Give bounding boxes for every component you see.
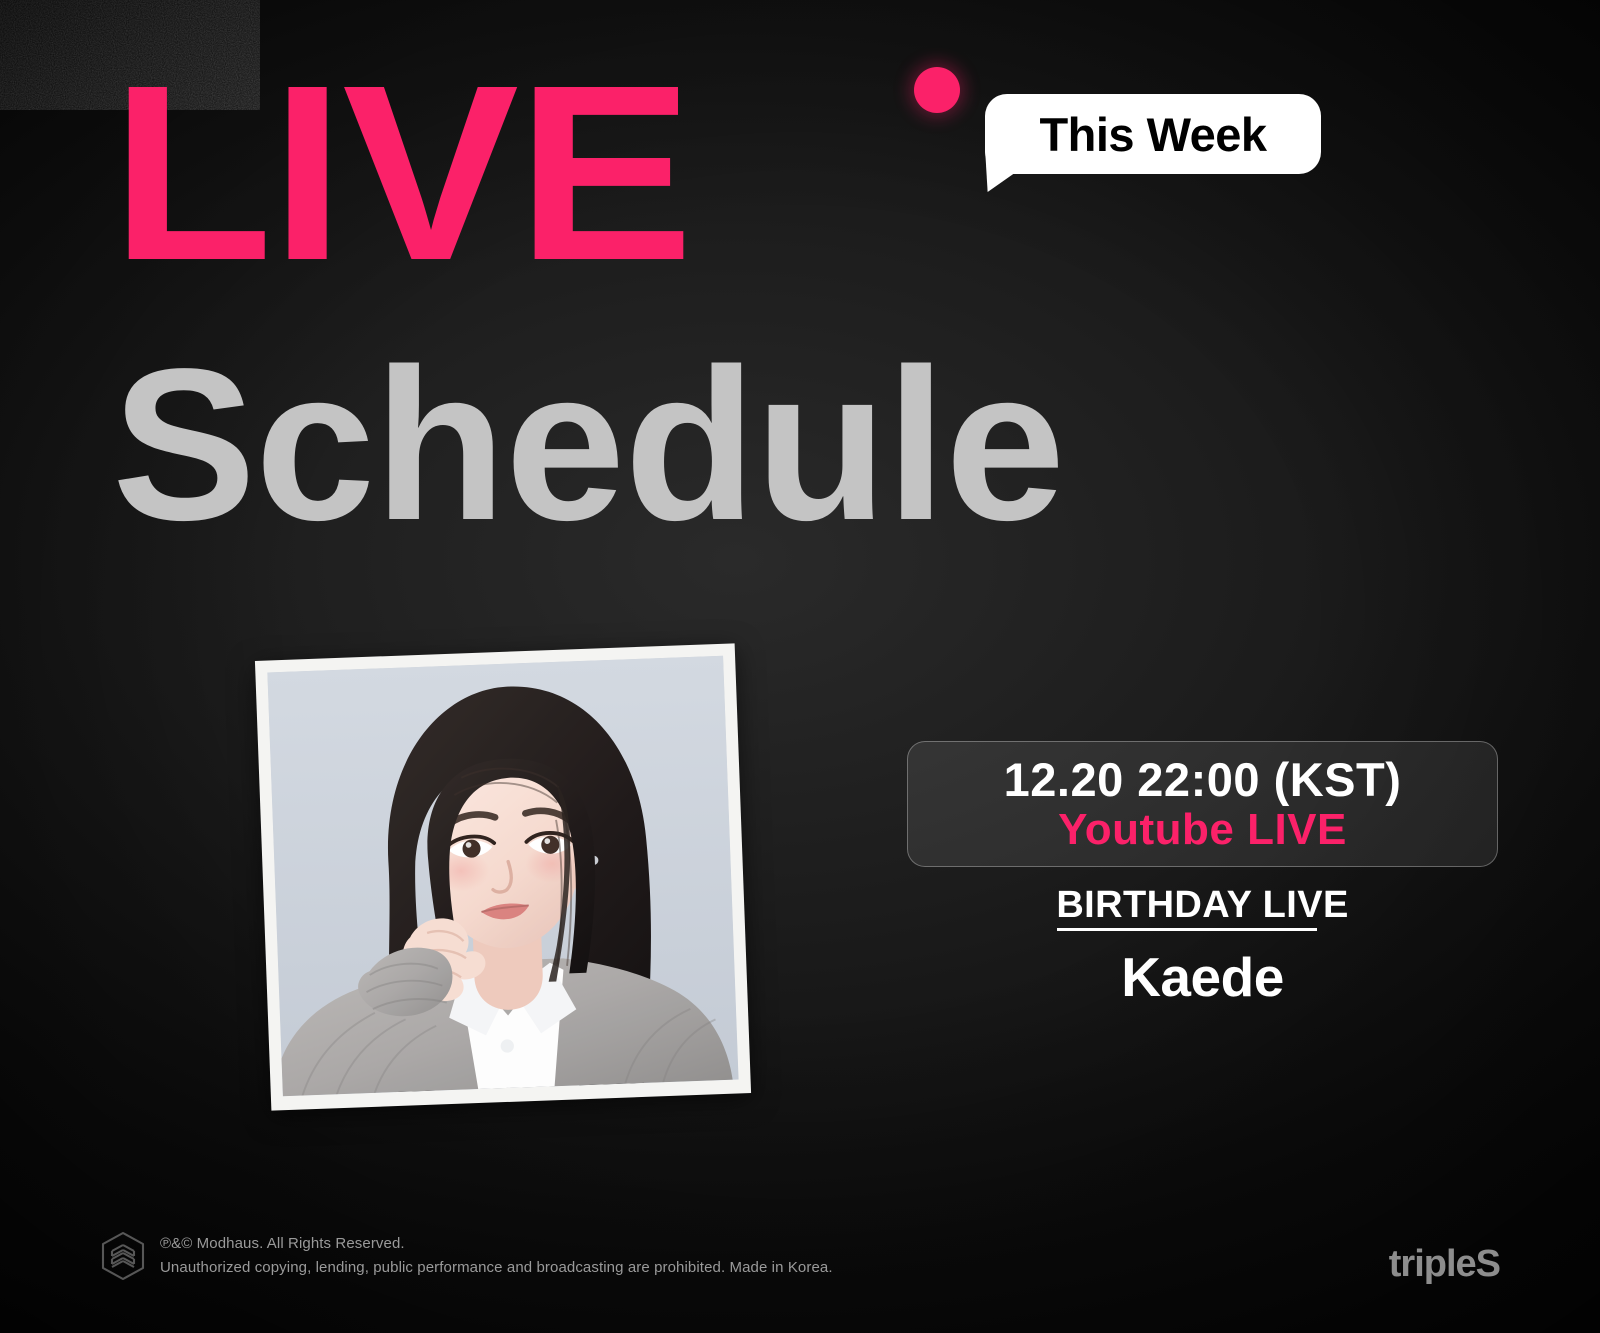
footer-copyright-line-1: ℗&© Modhaus. All Rights Reserved. (160, 1234, 833, 1254)
headline-schedule: Schedule (112, 336, 1064, 552)
headline-live: LIVE (111, 48, 692, 298)
this-week-badge-label: This Week (1039, 111, 1266, 158)
footer-copyright: ℗&© Modhaus. All Rights Reserved. Unauth… (160, 1234, 833, 1278)
footer: ℗&© Modhaus. All Rights Reserved. Unauth… (100, 1231, 833, 1281)
member-photo-frame (255, 643, 751, 1110)
schedule-platform: Youtube LIVE (1058, 807, 1347, 853)
this-week-badge: This Week (985, 94, 1321, 174)
footer-copyright-line-2: Unauthorized copying, lending, public pe… (160, 1258, 833, 1278)
modhaus-cube-icon (100, 1231, 146, 1281)
schedule-info-box: 12.20 22:00 (KST) Youtube LIVE (907, 741, 1498, 867)
event-type-underline (1057, 928, 1317, 931)
live-dot-icon (914, 67, 960, 113)
event-type-label: BIRTHDAY LIVE (907, 884, 1498, 928)
schedule-datetime: 12.20 22:00 (KST) (1004, 755, 1402, 804)
member-name-label: Kaede (907, 946, 1498, 1009)
brand-logo-triples: tripleS (1389, 1245, 1500, 1283)
live-schedule-poster: LIVE This Week Schedule (0, 0, 1600, 1333)
member-photo (267, 656, 738, 1096)
